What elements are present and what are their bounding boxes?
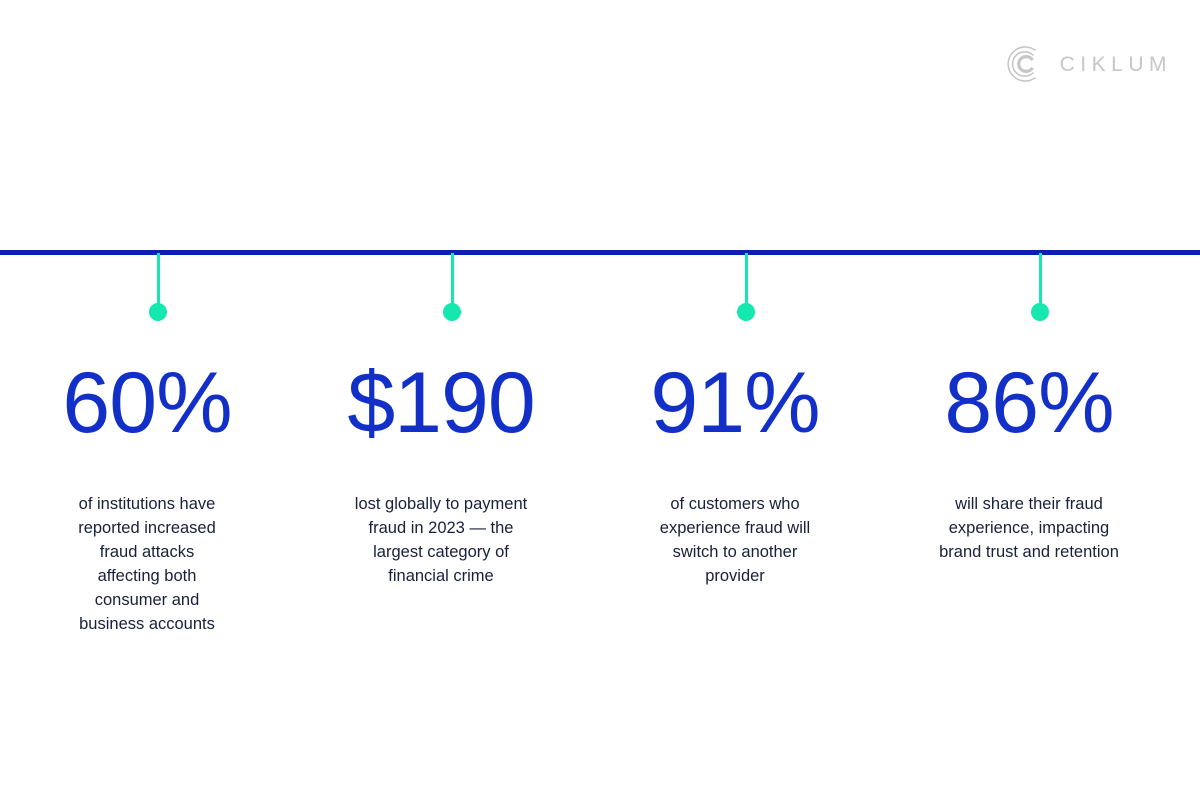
stat-columns: 60% of institutions have reported increa… [0, 360, 1200, 636]
stat-card: 91% of customers who experience fraud wi… [588, 360, 882, 636]
stat-card: 60% of institutions have reported increa… [0, 360, 294, 636]
stat-card: 86% will share their fraud experience, i… [882, 360, 1176, 636]
stat-description: of institutions have reported increased … [72, 492, 222, 636]
marker-dot-icon [737, 303, 755, 321]
stat-description: lost globally to payment fraud in 2023 —… [348, 492, 534, 588]
brand-logo: CIKLUM [1006, 44, 1172, 84]
marker-stem-icon [157, 253, 160, 307]
marker-stem-icon [451, 253, 454, 307]
stat-description: of customers who experience fraud will s… [649, 492, 821, 588]
marker-dot-icon [1031, 303, 1049, 321]
marker-dot-icon [149, 303, 167, 321]
ciklum-concentric-c-logo-icon [1006, 44, 1046, 84]
stat-value: 60% [16, 360, 278, 446]
stat-value: $190 [310, 360, 572, 446]
stat-value: 91% [604, 360, 866, 446]
stat-value: 86% [898, 360, 1160, 446]
marker-stem-icon [1039, 253, 1042, 307]
stat-card: $190 lost globally to payment fraud in 2… [294, 360, 588, 636]
brand-wordmark: CIKLUM [1060, 54, 1172, 75]
stat-description: will share their fraud experience, impac… [939, 492, 1119, 564]
marker-stem-icon [745, 253, 748, 307]
infographic-page: { "brand": { "mark_icon": "ciklum-concen… [0, 0, 1200, 800]
marker-dot-icon [443, 303, 461, 321]
timeline-markers [0, 250, 1200, 330]
